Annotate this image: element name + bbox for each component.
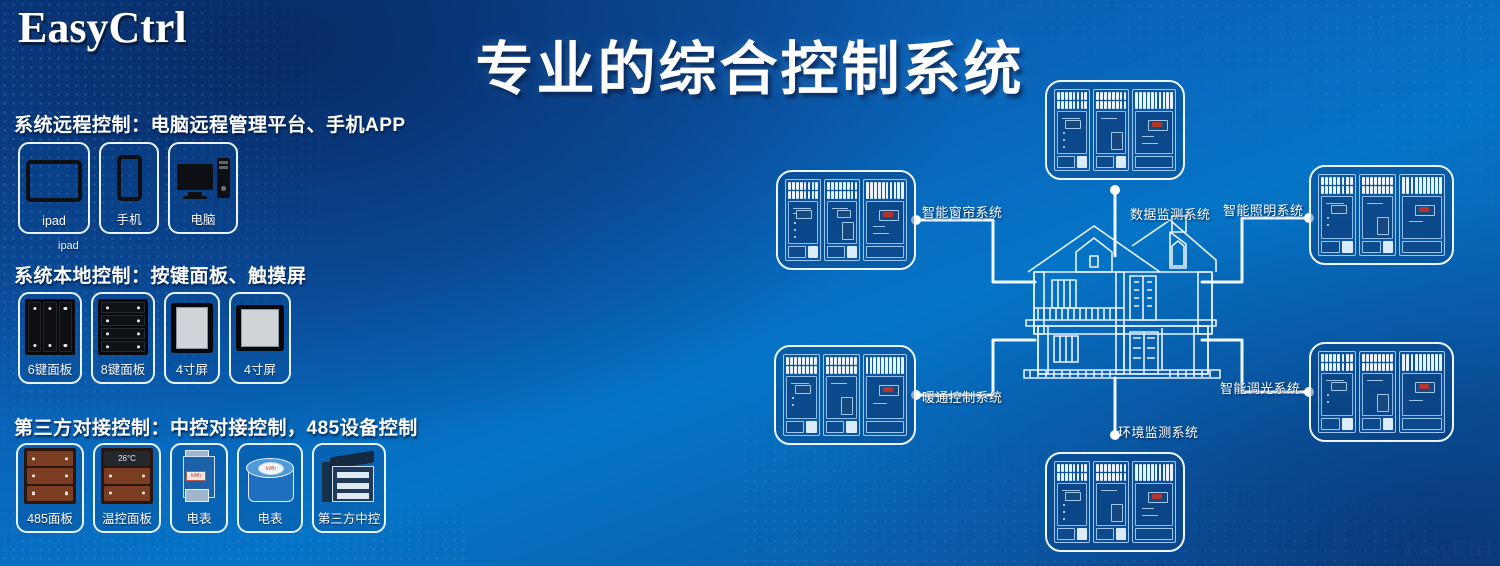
node-label-environment: 环境监测系统 xyxy=(1118,422,1198,441)
controller-module-icon xyxy=(1318,351,1445,433)
meter-dial-label: kWh xyxy=(258,462,284,475)
controller-module-icon xyxy=(785,179,907,261)
poster-canvas: EasyCtrl 专业的综合控制系统 系统远程控制：电脑远程管理平台、手机APP… xyxy=(0,0,1500,566)
node-label-data-monitoring: 数据监测系统 xyxy=(1130,204,1210,223)
module-box-data-monitoring[interactable] xyxy=(1045,80,1185,180)
brand-logo: EasyCtrl xyxy=(18,2,187,53)
device-card-label: 电表 xyxy=(257,508,282,527)
smartphone-icon xyxy=(106,151,152,205)
device-card-485-panel[interactable]: 485面板 xyxy=(16,443,84,533)
section-heading-third-party-control: 第三方对接控制：中控对接控制，485设备控制 xyxy=(14,413,418,440)
module-box-lighting[interactable] xyxy=(1309,165,1454,265)
section-heading-remote-control: 系统远程控制：电脑远程管理平台、手机APP xyxy=(14,110,406,137)
node-label-dimming: 智能调光系统 xyxy=(1220,378,1300,397)
controller-module-icon xyxy=(1318,174,1445,256)
device-card-label: 温控面板 xyxy=(102,508,152,527)
node-label-hvac: 暖通控制系统 xyxy=(922,387,1002,406)
device-card-4inch-screen-a[interactable]: 4寸屏 xyxy=(164,292,220,384)
controller-module-icon xyxy=(1054,461,1176,543)
six-key-panel-icon xyxy=(25,299,75,355)
device-card-4inch-screen-b[interactable]: 4寸屏 xyxy=(229,292,291,384)
device-card-label: 4寸屏 xyxy=(244,359,276,378)
device-card-label: 485面板 xyxy=(27,508,73,527)
module-box-hvac[interactable] xyxy=(774,345,916,445)
device-card-6key-panel[interactable]: 6键面板 xyxy=(18,292,82,384)
device-card-thermostat-panel[interactable]: 26°C 温控面板 xyxy=(93,443,161,533)
brand-watermark: EasyCtrl xyxy=(1404,536,1492,562)
device-card-phone[interactable]: 手机 xyxy=(99,142,159,234)
device-card-label: 电脑 xyxy=(190,209,215,228)
third-party-controller-icon xyxy=(319,450,379,504)
four-inch-screen-wide-icon xyxy=(236,301,284,355)
tablet-icon xyxy=(25,151,83,210)
device-card-8key-panel[interactable]: 8键面板 xyxy=(91,292,155,384)
device-card-label: 6键面板 xyxy=(28,359,72,378)
device-card-meter-round[interactable]: kWh 电表 xyxy=(237,443,303,533)
four-inch-screen-icon xyxy=(171,301,213,355)
node-label-lighting: 智能照明系统 xyxy=(1223,200,1303,219)
module-box-environment[interactable] xyxy=(1045,452,1185,552)
device-card-label: 电表 xyxy=(186,508,211,527)
thermostat-display-value: 26°C xyxy=(104,451,150,466)
device-card-label: ipad xyxy=(42,214,66,228)
section-heading-local-control: 系统本地控制：按键面板、触摸屏 xyxy=(14,261,307,288)
node-label-curtain: 智能窗帘系统 xyxy=(922,202,1002,221)
meter-tag-label: kWh xyxy=(186,471,206,481)
card-row-third-party-control: 485面板 26°C 温控面板 kWh 电表 xyxy=(16,443,395,533)
rs485-panel-icon xyxy=(23,448,77,504)
controller-module-icon xyxy=(783,354,907,436)
device-card-computer[interactable]: 电脑 xyxy=(168,142,238,234)
module-box-curtain[interactable] xyxy=(776,170,916,270)
controller-module-icon xyxy=(1054,89,1176,171)
module-box-dimming[interactable] xyxy=(1309,342,1454,442)
device-card-third-party-controller[interactable]: 第三方中控 xyxy=(312,443,386,533)
two-story-house-icon xyxy=(1020,210,1225,390)
din-rail-meter-icon: kWh xyxy=(177,448,221,504)
thermostat-panel-icon: 26°C xyxy=(100,448,154,504)
desktop-computer-icon xyxy=(175,151,231,205)
device-card-label: 第三方中控 xyxy=(318,508,381,527)
card-row-remote-control: ipad 手机 电脑 xyxy=(18,142,247,234)
device-card-ipad[interactable]: ipad xyxy=(18,142,90,234)
device-card-label: 8键面板 xyxy=(101,359,145,378)
round-meter-icon: kWh xyxy=(244,452,296,504)
device-card-meter-din[interactable]: kWh 电表 xyxy=(170,443,228,533)
ipad-sub-note: ipad xyxy=(58,240,79,252)
eight-key-panel-icon xyxy=(98,299,148,355)
device-card-label: 4寸屏 xyxy=(176,359,208,378)
card-row-local-control: 6键面板 8键面板 4寸屏 4寸屏 xyxy=(18,292,300,384)
device-card-label: 手机 xyxy=(116,209,141,228)
system-topology-diagram: 智能窗帘系统 数据监测系统 xyxy=(740,60,1485,560)
